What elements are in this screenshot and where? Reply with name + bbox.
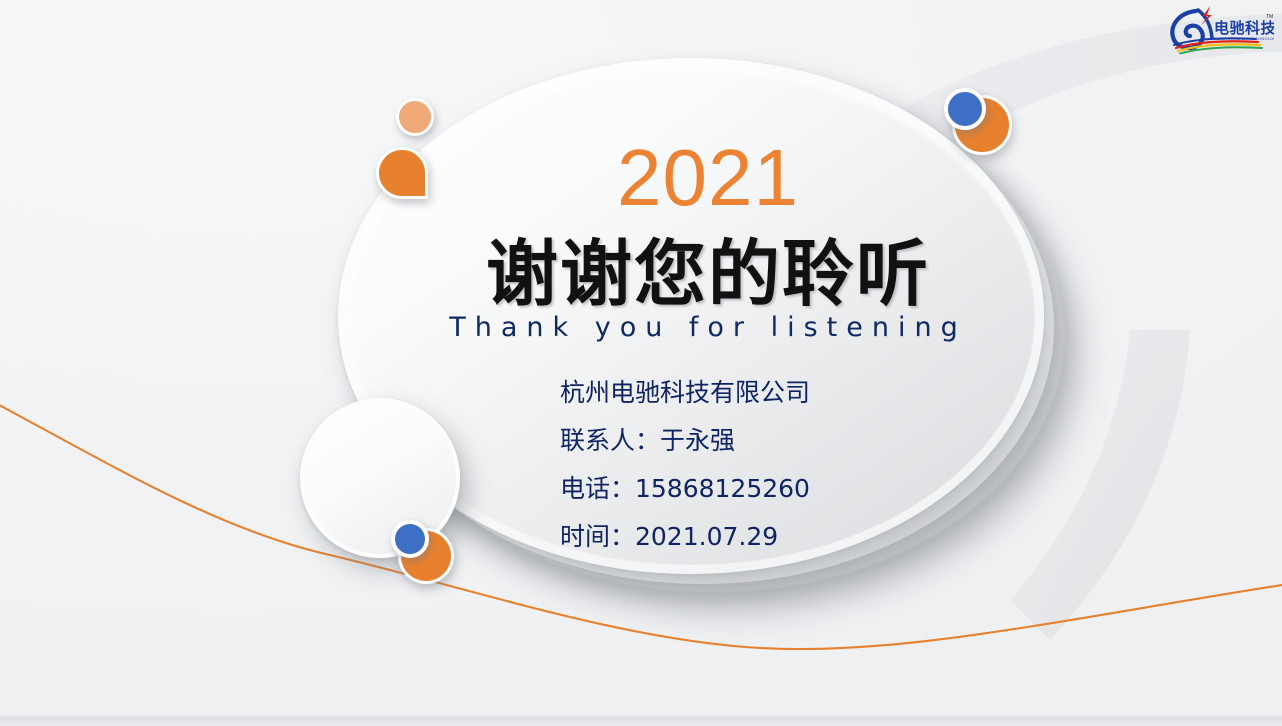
orange-leaf-dot bbox=[376, 147, 428, 199]
logo-mark: 电驰科技 TM ELECTRICAL CHI TECHNOLOGY bbox=[1162, 4, 1274, 54]
bottom-strip bbox=[0, 717, 1282, 726]
logo-trademark: TM bbox=[1266, 14, 1273, 20]
top-right-blue-dot bbox=[944, 88, 986, 130]
peach-dot bbox=[396, 98, 434, 136]
logo-brand-cn: 电驰科技 bbox=[1214, 19, 1274, 37]
slide-canvas: 2021 谢谢您的聆听 Thank you for listening 杭州电驰… bbox=[0, 0, 1282, 726]
bottom-left-blue-dot bbox=[391, 520, 429, 558]
company-logo: 电驰科技 TM ELECTRICAL CHI TECHNOLOGY bbox=[1162, 4, 1274, 54]
